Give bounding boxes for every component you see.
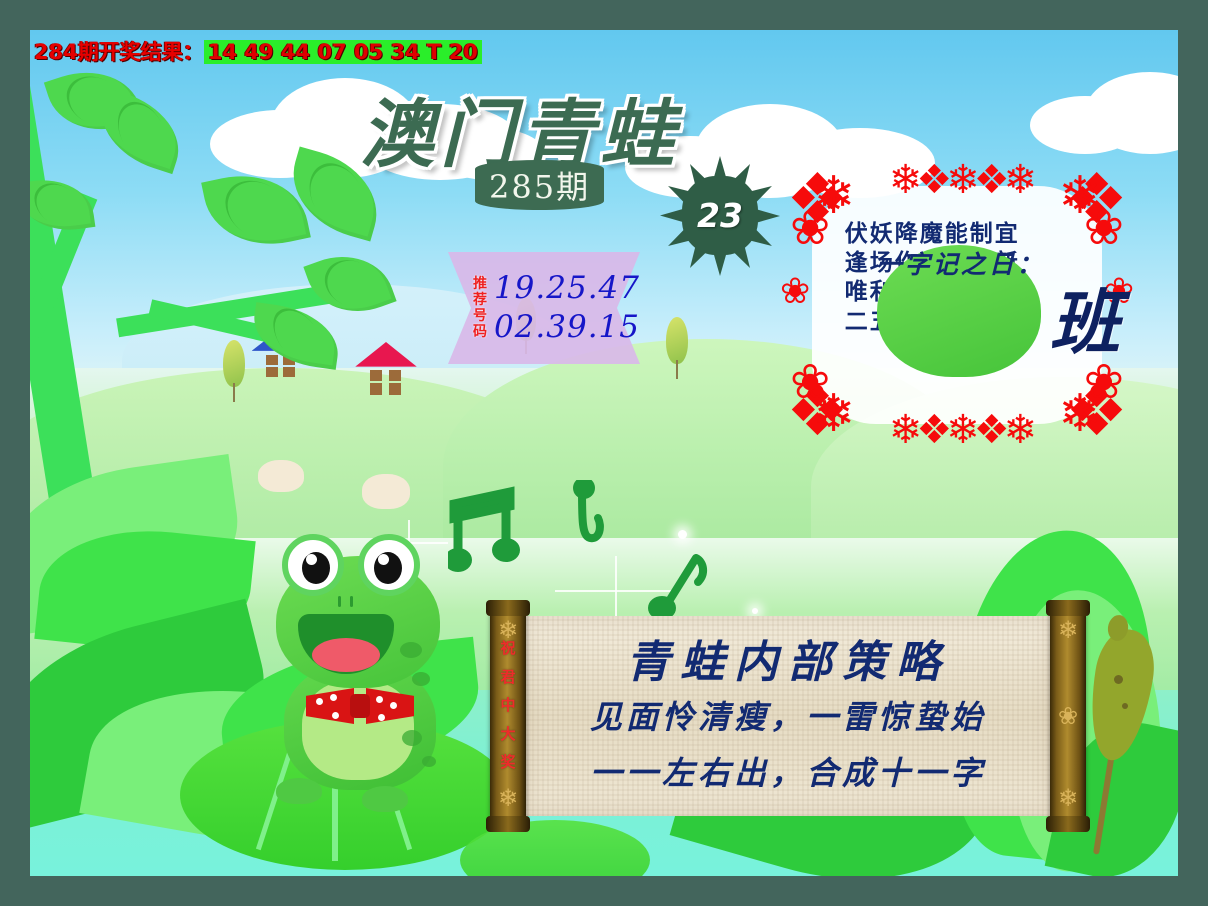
scroll-line-1: 见面怜清瘦，一雷惊蛰始 — [522, 692, 1054, 738]
fortune-panel: ❖ ❄ ❀ ❖ ❄ ❀ ❖ ❄ ❀ ❖ ❄ ❀ ❄❖❄❖❄ ❄❖❄❖❄ ❀ ❀ — [792, 170, 1122, 440]
ornament-corner-bl: ❖ ❄ ❀ — [786, 350, 882, 446]
ornament-edge-bottom: ❄❖❄❖❄ — [870, 410, 1050, 450]
music-note-eighth — [566, 480, 626, 554]
music-note-beamed — [448, 480, 534, 576]
frog-eye-left — [282, 534, 344, 596]
draw-result-line: 284期开奖结果：14 49 44 07 05 34 T 20 — [34, 36, 482, 66]
frog-spot — [412, 672, 430, 686]
small-tree — [223, 340, 245, 402]
lucky-number-value: 23 — [660, 158, 780, 273]
issue-badge: 285期 — [475, 160, 604, 210]
keyword-character: 班 — [1050, 267, 1120, 368]
frog-spot — [400, 642, 422, 658]
recommend-label: 推荐号码 — [470, 276, 490, 340]
frog-bowtie — [306, 688, 414, 724]
scroll-floral-icon: ❀ — [1054, 702, 1082, 730]
poster-root: ❖ ❄ ❀ ❖ ❄ ❀ ❖ ❄ ❀ ❖ ❄ ❀ ❄❖❄❖❄ ❄❖❄❖❄ ❀ ❀ — [0, 0, 1208, 906]
scroll-rod-right: ❄ ❀ ❄ — [1050, 608, 1086, 824]
scroll-floral-icon: ❄ — [1054, 784, 1082, 812]
ornament-edge-left: ❀ — [780, 274, 820, 310]
poem-heading: 一字记之日： — [877, 245, 1041, 377]
recommend-numbers-line-1: 19.25.47 — [494, 269, 640, 308]
frog-spot — [402, 730, 422, 746]
fortune-poem: 一字记之日： 伏妖降魔能制宜 逢场作戏旧换新 唯利是图乐欣欣 二五成七推吉数 — [845, 219, 1063, 337]
frog-spot — [422, 756, 436, 767]
frog-tongue — [312, 638, 380, 672]
frog-foot-left — [276, 778, 322, 804]
recommend-numbers-line-2: 02.39.15 — [494, 308, 640, 347]
scroll-floral-icon: ❄ — [1054, 616, 1082, 644]
ornament-edge-top: ❄❖❄❖❄ — [870, 160, 1050, 200]
house-red-roof — [362, 342, 410, 398]
strategy-scroll: ❄ ❄ ❄ ❀ ❄ 祝君中大奖 青蛙内部策略 见面怜清瘦，一雷惊蛰始 一一左右出… — [478, 600, 1098, 830]
singing-frog — [262, 530, 472, 820]
small-tree — [666, 317, 688, 379]
scroll-title: 青蛙内部策略 — [522, 626, 1054, 690]
poem-line-1: 伏妖降魔能制宜 — [845, 219, 1063, 248]
cloud-cluster-far-right — [1030, 66, 1178, 156]
draw-result-numbers: 14 49 44 07 05 34 T 20 — [204, 40, 482, 64]
frog-foot-right — [362, 786, 408, 812]
poster-canvas: ❖ ❄ ❀ ❖ ❄ ❀ ❖ ❄ ❀ ❖ ❄ ❀ ❄❖❄❖❄ ❄❖❄❖❄ ❀ ❀ — [30, 30, 1178, 876]
scroll-line-2: 一一左右出，合成十一字 — [522, 748, 1054, 794]
draw-result-label: 284期开奖结果： — [34, 40, 204, 64]
sparkle-cross — [615, 590, 617, 592]
frog-eye-right — [358, 534, 420, 596]
recommend-panel: 推荐号码 19.25.47 02.39.15 — [448, 252, 640, 364]
frog-nostrils — [338, 596, 360, 607]
lucky-number-burst: 23 — [660, 158, 780, 273]
scroll-vertical-text: 祝君中大奖 — [492, 634, 524, 777]
scroll-floral-icon: ❄ — [494, 784, 522, 812]
recommend-numbers: 19.25.47 02.39.15 — [490, 269, 640, 347]
